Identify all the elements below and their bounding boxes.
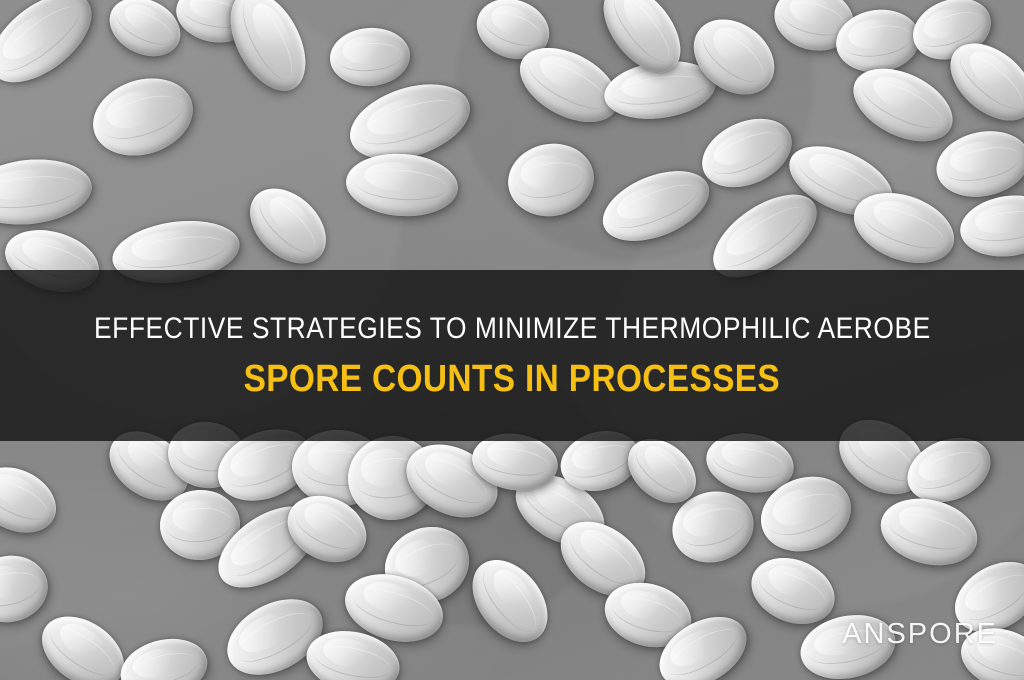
spore-7 [328, 25, 412, 88]
spore-12 [502, 137, 599, 223]
sem-banner-image: EFFECTIVE STRATEGIES TO MINIMIZE THERMOP… [0, 0, 1024, 680]
brand-watermark: ANSPORE [842, 620, 998, 649]
spore-28 [236, 174, 341, 278]
spore-58 [874, 489, 985, 575]
spore-6 [215, 0, 320, 103]
spore-27 [956, 189, 1024, 262]
spore-0 [0, 0, 107, 100]
title-overlay-band: EFFECTIVE STRATEGIES TO MINIMIZE THERMOP… [0, 270, 1024, 441]
spore-61 [0, 455, 67, 546]
title-line-secondary: SPORE COUNTS IN PROCESSES [244, 360, 781, 398]
spore-9 [344, 150, 460, 220]
spore-1 [83, 66, 203, 168]
spore-2 [0, 154, 95, 231]
title-line-primary: EFFECTIVE STRATEGIES TO MINIMIZE THERMOP… [94, 314, 931, 344]
spore-24 [593, 157, 719, 255]
spore-43 [457, 546, 562, 657]
spore-62 [0, 549, 54, 630]
spore-64 [114, 630, 213, 680]
